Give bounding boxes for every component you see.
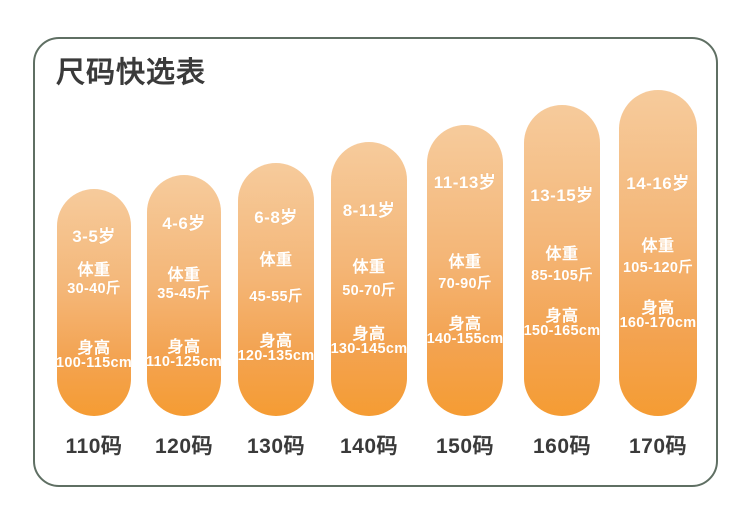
bar-weight-label: 体重 — [545, 240, 578, 264]
bar-weight-label: 体重 — [448, 248, 481, 272]
size-label: 150码 — [436, 430, 494, 460]
bar-weight-label: 体重 — [352, 253, 385, 277]
bar-age-range: 11-13岁 — [434, 168, 497, 193]
bar-weight-value: 50-70斤 — [342, 279, 395, 300]
bar-weight-value: 70-90斤 — [438, 272, 491, 293]
size-label: 140码 — [340, 430, 398, 460]
size-chart-bars: 3-5岁体重30-40斤身高100-115cm110码4-6岁体重35-45斤身… — [0, 0, 750, 524]
bar-age-range: 13-15岁 — [530, 181, 593, 206]
bar-weight-value: 30-40斤 — [67, 277, 120, 298]
size-label: 160码 — [533, 430, 591, 460]
bar-height-value: 100-115cm — [56, 355, 132, 371]
bar-age-range: 14-16岁 — [626, 169, 689, 194]
bar-weight-value: 45-55斤 — [249, 285, 302, 306]
bar-age-range: 4-6岁 — [162, 209, 206, 234]
bar-weight-value: 105-120斤 — [623, 256, 693, 277]
bar-age-range: 6-8岁 — [254, 203, 298, 228]
size-label: 130码 — [247, 430, 305, 460]
bar-height-value: 110-125cm — [146, 354, 222, 370]
bar-weight-value: 85-105斤 — [531, 264, 593, 285]
bar-age-range: 8-11岁 — [343, 196, 396, 221]
size-label: 110码 — [66, 430, 123, 460]
size-label: 120码 — [155, 430, 213, 460]
bar-height-value: 140-155cm — [427, 331, 504, 347]
bar-height-value: 150-165cm — [524, 323, 601, 339]
size-label: 170码 — [629, 430, 687, 460]
bar-weight-label: 体重 — [641, 232, 674, 256]
bar-height-value: 130-145cm — [331, 341, 408, 357]
bar-weight-value: 35-45斤 — [157, 282, 210, 303]
bar-weight-label: 体重 — [259, 246, 292, 270]
bar-age-range: 3-5岁 — [72, 222, 116, 247]
bar-height-value: 120-135cm — [238, 348, 315, 364]
bar-height-value: 160-170cm — [620, 315, 697, 331]
